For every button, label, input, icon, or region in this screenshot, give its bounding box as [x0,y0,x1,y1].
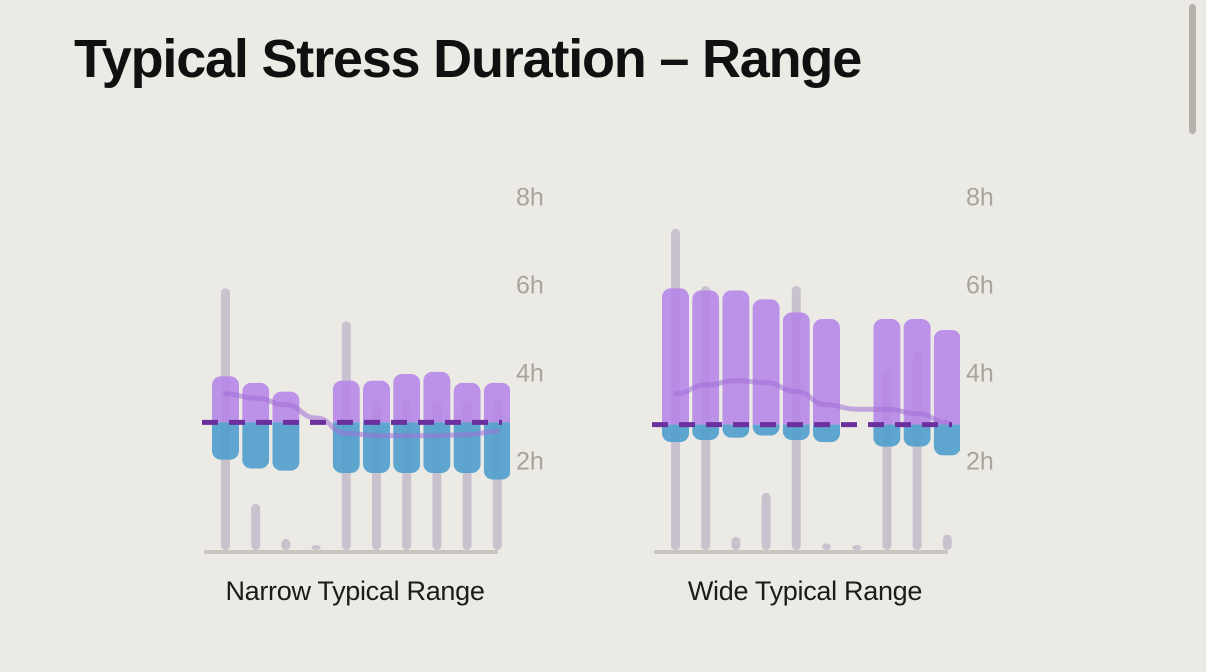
y-axis-tick-4h: 4h [516,360,544,389]
chart-plot-narrow-typical-range[interactable] [200,180,510,570]
y-axis-tick-6h: 6h [516,272,544,301]
baseline-axis [654,550,948,554]
y-axis-labels: 8h6h4h2h [966,180,1022,570]
y-axis-tick-2h: 2h [516,448,544,477]
y-axis-tick-4h: 4h [966,360,994,389]
baseline-axis [204,550,498,554]
y-axis-tick-8h: 8h [516,184,544,213]
chart-plot-wide-typical-range[interactable] [650,180,960,570]
y-axis-labels: 8h6h4h2h [516,180,572,570]
vertical-scrollbar-thumb[interactable] [1189,4,1196,134]
y-axis-tick-6h: 6h [966,272,994,301]
y-axis-tick-8h: 8h [966,184,994,213]
y-axis-tick-2h: 2h [966,448,994,477]
page-root: Typical Stress Duration – Range 8h6h4h2h… [0,0,1206,672]
range-bars [212,372,510,480]
chart-caption-narrow-typical-range: Narrow Typical Range [200,576,510,607]
chart-caption-wide-typical-range: Wide Typical Range [650,576,960,607]
range-bars [662,288,960,455]
page-title: Typical Stress Duration – Range [74,28,861,90]
